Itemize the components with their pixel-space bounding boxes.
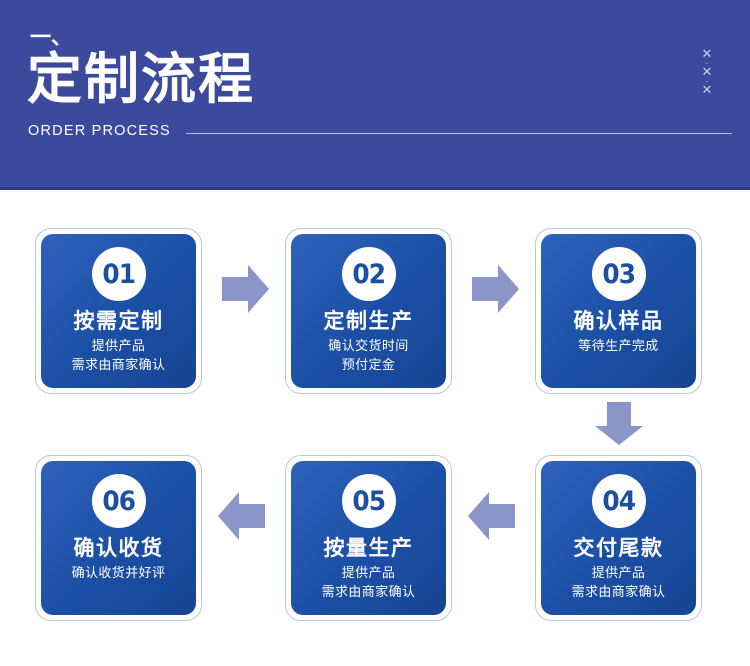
header-divider-line <box>186 133 732 134</box>
step-description-line: 等待生产完成 <box>578 338 658 357</box>
step-number-label: 03 <box>602 261 635 288</box>
page-title: 定制流程 <box>27 48 255 111</box>
step-number-badge: 02 <box>342 247 396 301</box>
page-subtitle: ORDER PROCESS <box>28 124 171 139</box>
step-number-label: 04 <box>602 488 635 515</box>
card-body: 04 交付尾款 提供产品 需求由商家确认 <box>541 461 696 615</box>
section-number-kicker: 一、 <box>30 27 72 48</box>
process-step-card-03[interactable]: 03 确认样品 等待生产完成 <box>535 228 702 394</box>
step-number-label: 06 <box>102 488 135 515</box>
step-title: 确认样品 <box>574 309 664 333</box>
step-description: 确认交货时间 预付定金 <box>328 338 408 376</box>
process-step-card-04[interactable]: 04 交付尾款 提供产品 需求由商家确认 <box>535 455 702 621</box>
step-description-line: 提供产品 <box>322 565 416 584</box>
step-description-line: 需求由商家确认 <box>322 584 416 603</box>
step-description: 提供产品 需求由商家确认 <box>572 565 666 603</box>
step-title: 确认收货 <box>74 536 164 560</box>
arrow-left-icon <box>216 490 266 542</box>
card-body: 05 按量生产 提供产品 需求由商家确认 <box>291 461 446 615</box>
step-number-badge: 04 <box>592 474 646 528</box>
step-description-line: 提供产品 <box>72 338 166 357</box>
step-description: 等待生产完成 <box>578 338 658 357</box>
arrow-left-icon <box>466 490 516 542</box>
step-description-line: 需求由商家确认 <box>72 357 166 376</box>
step-description: 提供产品 需求由商家确认 <box>72 338 166 376</box>
step-description-line: 确认交货时间 <box>328 338 408 357</box>
step-title: 按需定制 <box>74 309 164 333</box>
page-header: 一、 定制流程 ORDER PROCESS ✕ · ✕ · ✕ <box>0 0 750 190</box>
step-description-line: 预付定金 <box>328 357 408 376</box>
step-number-badge: 05 <box>342 474 396 528</box>
arrow-right-icon <box>222 263 270 315</box>
card-body: 01 按需定制 提供产品 需求由商家确认 <box>41 234 196 388</box>
arrow-down-icon <box>594 402 644 446</box>
step-description-line: 确认收货并好评 <box>72 565 166 584</box>
process-step-card-05[interactable]: 05 按量生产 提供产品 需求由商家确认 <box>285 455 452 621</box>
x-decoration-group: ✕ · ✕ · ✕ <box>694 48 720 96</box>
process-step-card-06[interactable]: 06 确认收货 确认收货并好评 <box>35 455 202 621</box>
card-body: 06 确认收货 确认收货并好评 <box>41 461 196 615</box>
step-title: 按量生产 <box>324 536 414 560</box>
step-description: 提供产品 需求由商家确认 <box>322 565 416 603</box>
step-description: 确认收货并好评 <box>72 565 166 584</box>
step-number-badge: 06 <box>92 474 146 528</box>
process-flow-area: 01 按需定制 提供产品 需求由商家确认 02 定制生产 确认交货时间 预付定金 <box>0 190 750 666</box>
step-title: 交付尾款 <box>574 536 664 560</box>
process-step-card-02[interactable]: 02 定制生产 确认交货时间 预付定金 <box>285 228 452 394</box>
step-description-line: 提供产品 <box>572 565 666 584</box>
x-mark-icon: ✕ <box>702 84 713 96</box>
step-number-label: 02 <box>352 261 385 288</box>
arrow-right-icon <box>472 263 520 315</box>
step-number-label: 05 <box>352 488 385 515</box>
step-description-line: 需求由商家确认 <box>572 584 666 603</box>
process-step-card-01[interactable]: 01 按需定制 提供产品 需求由商家确认 <box>35 228 202 394</box>
card-body: 02 定制生产 确认交货时间 预付定金 <box>291 234 446 388</box>
step-number-badge: 01 <box>92 247 146 301</box>
step-title: 定制生产 <box>324 309 414 333</box>
step-number-badge: 03 <box>592 247 646 301</box>
step-number-label: 01 <box>102 261 135 288</box>
card-body: 03 确认样品 等待生产完成 <box>541 234 696 388</box>
